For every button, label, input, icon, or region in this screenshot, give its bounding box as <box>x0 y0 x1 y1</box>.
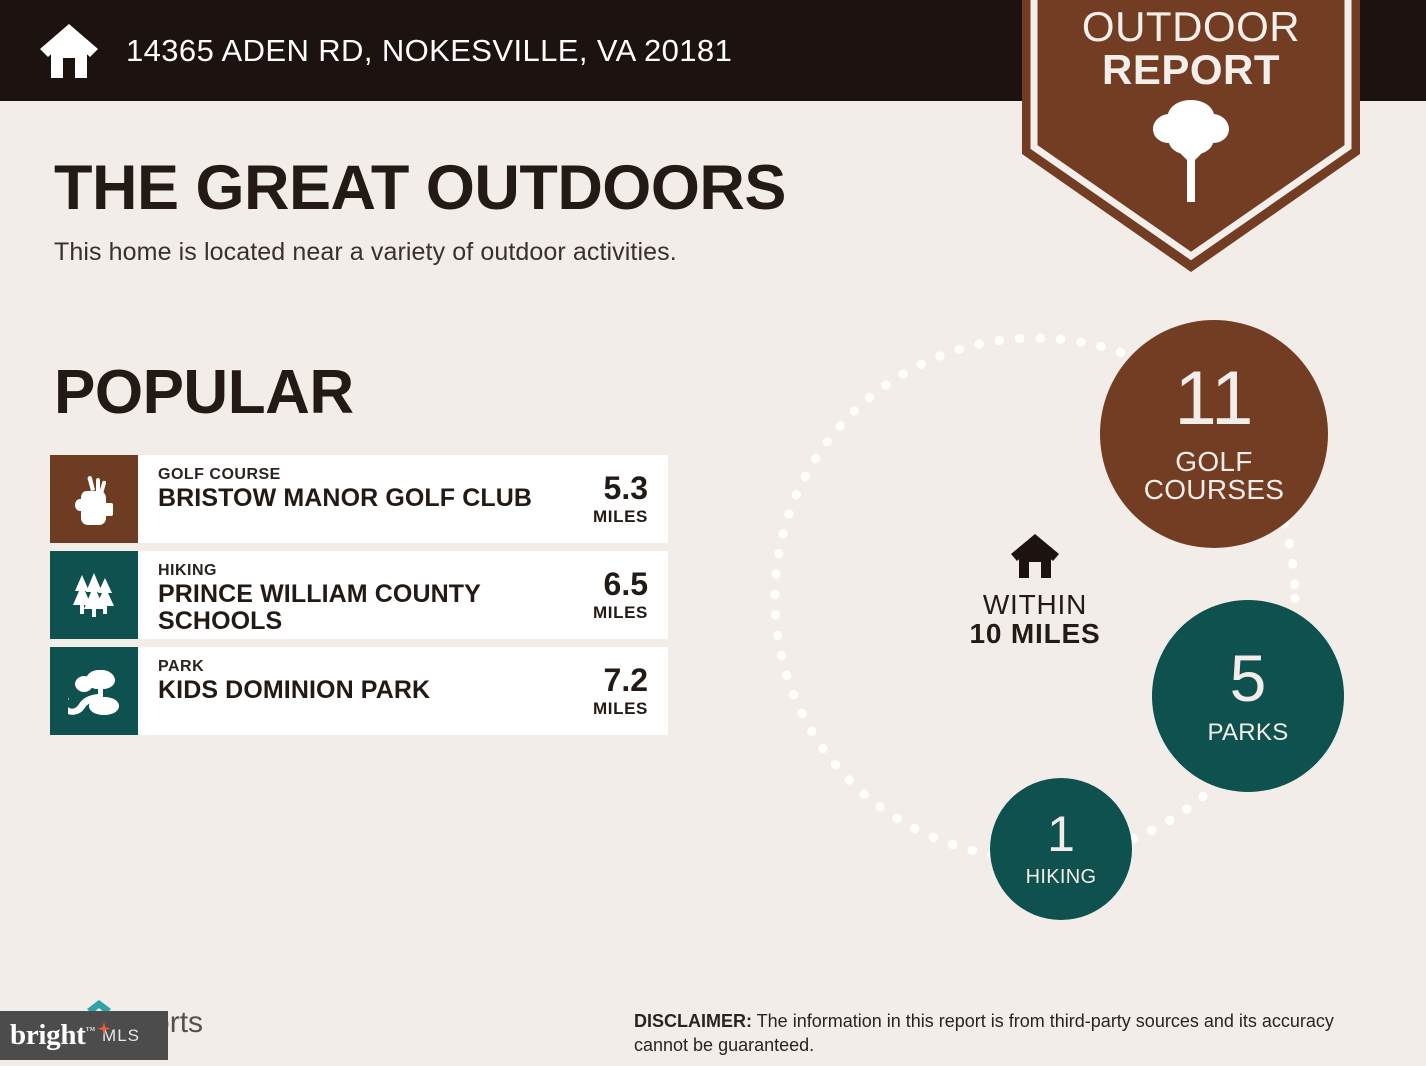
popular-list: GOLF COURSE BRISTOW MANOR GOLF CLUB 5.3 … <box>50 455 668 743</box>
badge-shield-shape <box>1022 0 1360 272</box>
park-tree-path-icon <box>68 667 120 715</box>
home-icon <box>38 22 100 80</box>
bright-mls-logo: bright™ MLS <box>0 1011 168 1060</box>
list-item-text: GOLF COURSE BRISTOW MANOR GOLF CLUB <box>138 455 556 543</box>
list-item[interactable]: PARK KIDS DOMINION PARK 7.2 MILES <box>50 647 668 735</box>
stat-count: 5 <box>1230 647 1267 710</box>
property-address: 14365 ADEN RD, NOKESVILLE, VA 20181 <box>126 33 732 69</box>
list-item-category: PARK <box>158 658 556 676</box>
distance-value: 6.5 <box>556 568 648 600</box>
disclaimer-text: DISCLAIMER: The information in this repo… <box>634 1010 1374 1058</box>
distance-unit: MILES <box>556 507 648 527</box>
list-item-category: GOLF COURSE <box>158 466 556 484</box>
distance-value: 7.2 <box>556 664 648 696</box>
stat-label-line1: GOLF <box>1144 448 1285 477</box>
stat-count: 11 <box>1175 363 1254 435</box>
list-item-text: HIKING PRINCE WILLIAM COUNTY SCHOOLS <box>138 551 556 639</box>
center-label-line1: WITHIN <box>983 590 1087 619</box>
page-title: THE GREAT OUTDOORS <box>54 152 786 224</box>
list-item-name: BRISTOW MANOR GOLF CLUB <box>158 485 556 512</box>
stat-count: 1 <box>1047 811 1075 859</box>
list-item-distance: 7.2 MILES <box>556 647 668 735</box>
mls-brand-name: bright™ <box>10 1021 95 1050</box>
proximity-diagram: 11 GOLF COURSES 5 PARKS 1 HIKING WITHIN … <box>740 300 1400 940</box>
category-tile <box>50 551 138 639</box>
page-subtitle: This home is located near a variety of o… <box>54 238 677 267</box>
list-item[interactable]: GOLF COURSE BRISTOW MANOR GOLF CLUB 5.3 … <box>50 455 668 543</box>
distance-value: 5.3 <box>556 472 648 504</box>
outdoor-report-page: 14365 ADEN RD, NOKESVILLE, VA 20181 OUTD… <box>0 0 1426 1066</box>
section-title-popular: POPULAR <box>54 357 354 428</box>
outdoor-report-badge: OUTDOOR REPORT <box>1022 0 1360 272</box>
category-tile <box>50 647 138 735</box>
list-item-name: KIDS DOMINION PARK <box>158 677 556 704</box>
list-item-distance: 5.3 MILES <box>556 455 668 543</box>
stat-label: HIKING <box>1026 867 1097 887</box>
list-item-name: PRINCE WILLIAM COUNTY SCHOOLS <box>158 581 556 635</box>
list-item-category: HIKING <box>158 562 556 580</box>
stat-circle-parks[interactable]: 5 PARKS <box>1152 600 1344 792</box>
stat-label: GOLF COURSES <box>1144 448 1285 505</box>
category-tile <box>50 455 138 543</box>
pine-trees-icon <box>69 571 119 619</box>
stat-label-line2: COURSES <box>1144 476 1285 505</box>
list-item-distance: 6.5 MILES <box>556 551 668 639</box>
diagram-center: WITHIN 10 MILES <box>925 532 1145 649</box>
list-item[interactable]: HIKING PRINCE WILLIAM COUNTY SCHOOLS 6.5… <box>50 551 668 639</box>
golf-bag-icon <box>71 473 117 525</box>
star-accent-icon <box>97 1022 111 1036</box>
stat-circle-hiking[interactable]: 1 HIKING <box>990 778 1132 920</box>
center-label-line2: 10 MILES <box>970 619 1101 648</box>
stat-circle-golf-courses[interactable]: 11 GOLF COURSES <box>1100 320 1328 548</box>
home-icon <box>1009 532 1061 580</box>
list-item-text: PARK KIDS DOMINION PARK <box>138 647 556 735</box>
distance-unit: MILES <box>556 603 648 623</box>
stat-label: PARKS <box>1207 721 1288 745</box>
disclaimer-label: DISCLAIMER: <box>634 1011 752 1031</box>
distance-unit: MILES <box>556 699 648 719</box>
